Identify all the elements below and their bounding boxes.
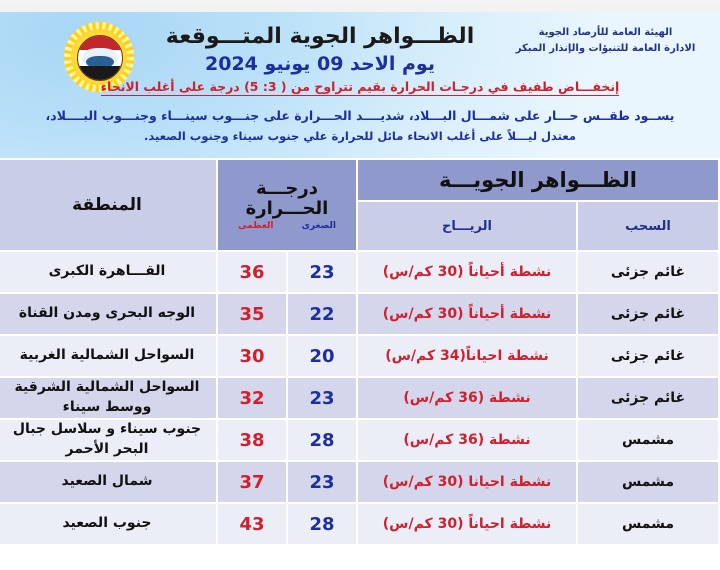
header-clouds: السحب: [578, 202, 718, 250]
cell-temp-min: 28: [288, 504, 356, 544]
page-title: الظـــواهر الجوية المتـــوقعة يوم الاحد …: [155, 23, 485, 76]
logo-emblem-icon: [77, 35, 123, 81]
agency-line-2: الادارة العامة للتنبؤات والإنذار المبكر: [503, 41, 708, 57]
header-phenomena-group: الظـــواهر الجويـــة: [358, 160, 718, 200]
cell-clouds: مشمس: [578, 462, 718, 502]
logo-black-band: [78, 66, 122, 80]
table-row: مشمس نشطة (36 كم/س) 28 38 جنوب سيناء و س…: [0, 420, 718, 460]
cell-wind: نشطة (36 كم/س): [358, 378, 576, 418]
cell-region: الوجه البحرى ومدن القناة: [0, 294, 216, 334]
table-row: غائم جزئى نشطة أحياناً (30 كم/س) 23 36 ا…: [0, 252, 718, 292]
header-temp-max-label: العظمى: [238, 221, 273, 231]
cell-region: القـــاهرة الكبرى: [0, 252, 216, 292]
title-text: الظـــواهر الجوية المتـــوقعة: [155, 23, 485, 51]
cell-wind: نشطة احياناً (30 كم/س): [358, 504, 576, 544]
cell-region: السواحل الشمالية الشرقية ووسط سيناء: [0, 378, 216, 418]
cell-clouds: غائم جزئى: [578, 378, 718, 418]
cell-wind: نشطة أحياناً (30 كم/س): [358, 252, 576, 292]
cell-temp-max: 32: [218, 378, 286, 418]
header-temp-line-1: درجـــة: [218, 179, 356, 199]
summary-line-2: معتدل ليـــلاً على أغلب الانحاء مائل للح…: [14, 127, 706, 146]
cell-temp-min: 22: [288, 294, 356, 334]
table-body: غائم جزئى نشطة أحياناً (30 كم/س) 23 36 ا…: [0, 252, 718, 544]
cell-clouds: مشمس: [578, 420, 718, 460]
cell-clouds: غائم جزئى: [578, 294, 718, 334]
table-header-row-group: الظـــواهر الجويـــة درجـــة الحـــرارة …: [0, 160, 718, 200]
cell-region: السواحل الشمالية الغربية: [0, 336, 216, 376]
cell-temp-max: 35: [218, 294, 286, 334]
cell-temp-min: 23: [288, 462, 356, 502]
cell-temp-min: 28: [288, 420, 356, 460]
alert-text: إنخفـــاض طفيف في درجـات الحرارة بقيم تت…: [101, 79, 620, 96]
table-row: مشمس نشطة احياناً (30 كم/س) 28 43 جنوب ا…: [0, 504, 718, 544]
cell-region: جنوب سيناء و سلاسل جبال البحر الأحمر: [0, 420, 216, 460]
header-temperature: درجـــة الحـــرارة الصغرى العظمى: [218, 160, 356, 250]
alert-notice: إنخفـــاض طفيف في درجـات الحرارة بقيم تت…: [0, 79, 720, 94]
cell-temp-min: 23: [288, 378, 356, 418]
cell-temp-min: 23: [288, 252, 356, 292]
table-row: غائم جزئى نشطة أحياناً (30 كم/س) 22 35 ا…: [0, 294, 718, 334]
agency-line-1: الهيئة العامة للأرصاد الجوية: [503, 25, 708, 41]
weather-forecast-page: الهيئة العامة للأرصاد الجوية الادارة الع…: [0, 0, 720, 570]
forecast-date: يوم الاحد 09 يونيو 2024: [155, 52, 485, 77]
forecast-summary: يســود طقــس حـــار على شمـــال البـــلا…: [14, 106, 706, 146]
cell-wind: نشطة احيانا (30 كم/س): [358, 462, 576, 502]
cell-clouds: مشمس: [578, 504, 718, 544]
cell-wind: نشطة (36 كم/س): [358, 420, 576, 460]
cell-region: شمال الصعيد: [0, 462, 216, 502]
cell-clouds: غائم جزئى: [578, 252, 718, 292]
cell-temp-max: 30: [218, 336, 286, 376]
header-temp-min-label: الصغرى: [302, 221, 336, 231]
header-wind: الريـــاح: [358, 202, 576, 250]
cell-temp-min: 20: [288, 336, 356, 376]
cell-temp-max: 38: [218, 420, 286, 460]
header-temp-line-2: الحـــرارة: [218, 199, 356, 219]
cell-temp-max: 37: [218, 462, 286, 502]
header-banner: الهيئة العامة للأرصاد الجوية الادارة الع…: [0, 0, 720, 158]
cell-temp-max: 36: [218, 252, 286, 292]
agency-name: الهيئة العامة للأرصاد الجوية الادارة الع…: [503, 25, 708, 56]
cell-region: جنوب الصعيد: [0, 504, 216, 544]
cell-temp-max: 43: [218, 504, 286, 544]
table-row: غائم جزئى نشطة (36 كم/س) 23 32 السواحل ا…: [0, 378, 718, 418]
cell-clouds: غائم جزئى: [578, 336, 718, 376]
summary-line-1: يســود طقــس حـــار على شمـــال البـــلا…: [14, 106, 706, 127]
table-row: غائم جزئى نشطة احياناً(34 كم/س) 20 30 ال…: [0, 336, 718, 376]
cell-wind: نشطة احياناً(34 كم/س): [358, 336, 576, 376]
weather-forecast-table: الظـــواهر الجويـــة درجـــة الحـــرارة …: [0, 158, 720, 546]
table-row: مشمس نشطة احيانا (30 كم/س) 23 37 شمال ال…: [0, 462, 718, 502]
cell-wind: نشطة أحياناً (30 كم/س): [358, 294, 576, 334]
header-region: المنطقة: [0, 160, 216, 250]
